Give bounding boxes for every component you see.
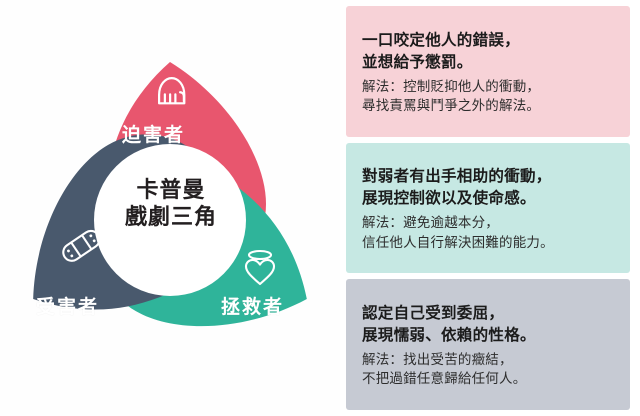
card-persecutor-headline: 一口咬定他人的錯誤， 並想給予懲罰。 (362, 29, 616, 73)
petal-label-persecutor: 迫害者 (122, 120, 185, 147)
solution-line-1: 解法：找出受苦的癥結， (362, 351, 616, 370)
solution-line-1: 解法：控制貶抑他人的衝動， (362, 78, 616, 97)
cards-pane: 一口咬定他人的錯誤， 並想給予懲罰。 解法：控制貶抑他人的衝動， 尋找責罵與鬥爭… (340, 0, 640, 416)
solution-line-2: 不把過錯任意歸給任何人。 (362, 370, 616, 389)
card-victim-headline: 認定自己受到委屈， 展現懦弱、依賴的性格。 (362, 302, 616, 346)
diagram-center-title: 卡普曼 戲劇三角 (96, 178, 246, 232)
card-victim[interactable]: 認定自己受到委屈， 展現懦弱、依賴的性格。 解法：找出受苦的癥結， 不把過錯任意… (346, 279, 630, 410)
card-persecutor[interactable]: 一口咬定他人的錯誤， 並想給予懲罰。 解法：控制貶抑他人的衝動， 尋找責罵與鬥爭… (346, 6, 630, 137)
card-rescuer[interactable]: 對弱者有出手相助的衝動， 展現控制欲以及使命感。 解法：避免逾越本分， 信任他人… (346, 143, 630, 274)
card-victim-solution: 解法：找出受苦的癥結， 不把過錯任意歸給任何人。 (362, 351, 616, 389)
headline-line-1: 一口咬定他人的錯誤， (362, 29, 616, 51)
center-title-line-1: 卡普曼 (96, 178, 246, 205)
kapman-drama-triangle-infographic: 迫害者 受害者 拯救者 卡普曼 戲劇三角 一口咬定他人的錯誤， 並想給予懲罰。 … (0, 0, 640, 416)
petal-label-rescuer: 拯救者 (221, 292, 284, 319)
card-rescuer-headline: 對弱者有出手相助的衝動， 展現控制欲以及使命感。 (362, 165, 616, 209)
headline-line-1: 認定自己受到委屈， (362, 302, 616, 324)
headline-line-1: 對弱者有出手相助的衝動， (362, 165, 616, 187)
solution-line-1: 解法：避免逾越本分， (362, 214, 616, 233)
headline-line-2: 展現控制欲以及使命感。 (362, 187, 616, 209)
solution-line-2: 信任他人自行解決困難的能力。 (362, 234, 616, 253)
petal-label-victim: 受害者 (36, 292, 99, 319)
diagram-pane: 迫害者 受害者 拯救者 卡普曼 戲劇三角 (0, 0, 340, 416)
headline-line-2: 並想給予懲罰。 (362, 51, 616, 73)
card-persecutor-solution: 解法：控制貶抑他人的衝動， 尋找責罵與鬥爭之外的解法。 (362, 78, 616, 116)
drama-triangle-graphic: 迫害者 受害者 拯救者 卡普曼 戲劇三角 (14, 54, 326, 366)
card-rescuer-solution: 解法：避免逾越本分， 信任他人自行解決困難的能力。 (362, 214, 616, 252)
center-title-line-2: 戲劇三角 (96, 205, 246, 232)
headline-line-2: 展現懦弱、依賴的性格。 (362, 324, 616, 346)
solution-line-2: 尋找責罵與鬥爭之外的解法。 (362, 97, 616, 116)
